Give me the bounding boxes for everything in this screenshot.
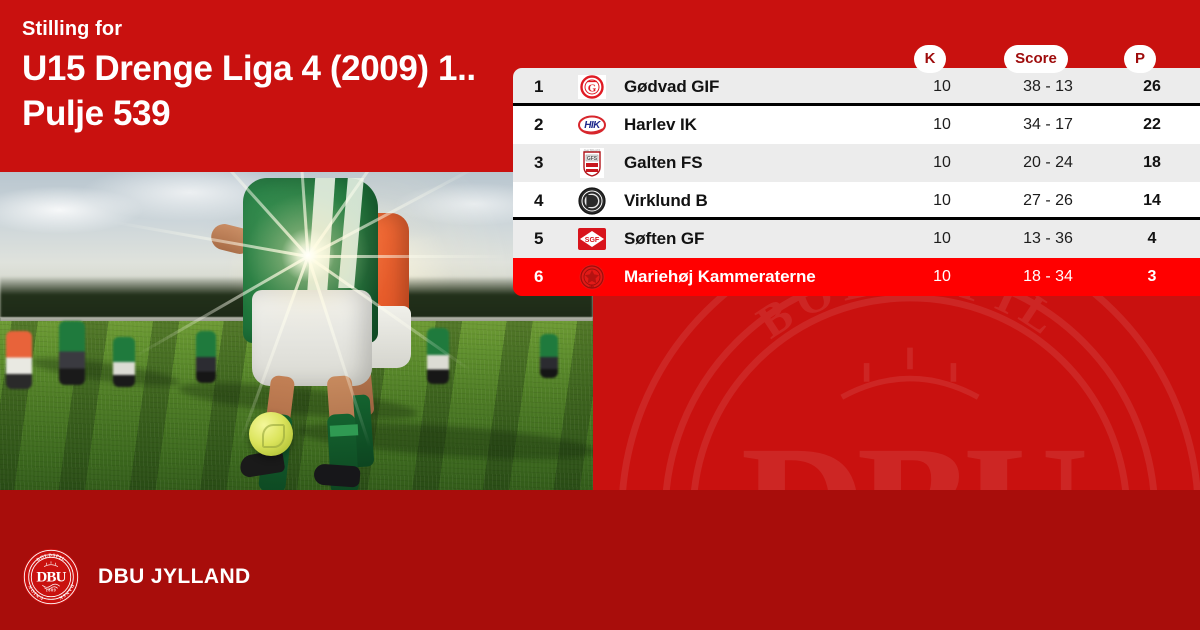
table-row[interactable]: 1 G Gødvad GIF 10 38 - 13 26 [513,68,1200,106]
column-header-matches[interactable]: K [914,45,947,73]
column-header-points[interactable]: P [1124,45,1156,73]
row-matches: 10 [892,230,992,248]
row-points: 26 [1104,78,1200,96]
photo-background-player [6,331,32,389]
row-points: 4 [1104,230,1200,248]
column-header-score[interactable]: Score [1004,45,1068,73]
photo-sun-ray [308,255,508,258]
row-team-name: Søften GF [615,229,892,249]
svg-text:MK: MK [589,285,595,289]
row-points: 22 [1104,116,1200,134]
svg-text:GFS: GFS [587,156,598,162]
header-block: Stilling for U15 Drenge Liga 4 (2009) 1.… [22,16,522,136]
row-position: 1 [513,77,569,97]
row-score: 34 - 17 [992,116,1104,134]
table-row[interactable]: 3 GFS GALTEN FS Galten FS 10 20 - 24 18 [513,144,1200,182]
photo-football [249,412,293,456]
dbu-crest-logo: BOLDSPIL DANSK UNION DBU 1889 [22,548,80,606]
row-score: 27 - 26 [992,192,1104,210]
row-position: 6 [513,267,569,287]
footer-brand: BOLDSPIL DANSK UNION DBU 1889 DBU JYLLAN… [22,548,251,606]
row-position: 2 [513,115,569,135]
row-score: 13 - 36 [992,230,1104,248]
svg-text:HIK: HIK [584,120,601,131]
kicker-text: Stilling for [22,16,522,42]
row-team-name: Galten FS [615,153,892,173]
photo-player-main-shorts [252,290,372,386]
photo-player-main-sock-band [329,424,358,436]
row-points: 3 [1104,268,1200,286]
row-team-name: Gødvad GIF [615,77,892,97]
row-matches: 10 [892,268,992,286]
row-matches: 10 [892,78,992,96]
mariehoj-kammeraterne-logo: MK [569,263,615,291]
harlev-ik-logo: HIK [569,112,615,138]
galten-fs-logo: GFS GALTEN FS [569,148,615,178]
soften-gf-logo: SGF [569,227,615,251]
table-row[interactable]: 6 MK Mariehøj Kammeraterne 10 18 - 34 3 [513,258,1200,296]
football-match-photo [0,172,593,490]
virklund-b-logo [569,187,615,215]
svg-text:GALTEN FS: GALTEN FS [584,149,600,153]
photo-background-player [427,328,449,384]
photo-background-player [540,334,558,378]
row-score: 38 - 13 [992,78,1104,96]
standings-table: 1 G Gødvad GIF 10 38 - 13 26 2 [513,68,1200,296]
svg-text:DBU: DBU [36,570,66,586]
svg-text:SGF: SGF [585,237,600,244]
row-position: 5 [513,229,569,249]
photo-background-player [113,337,135,387]
photo-player-main-boot [314,463,361,487]
row-points: 14 [1104,192,1200,210]
row-matches: 10 [892,154,992,172]
godvad-gif-logo: G [569,73,615,101]
photo-background-player [196,331,216,383]
row-team-name: Mariehøj Kammeraterne [615,267,892,287]
poster-canvas: BOLDSPIL DANSK UNION DBU 1889 Stilling f… [0,0,1200,630]
row-matches: 10 [892,116,992,134]
row-matches: 10 [892,192,992,210]
brand-name: DBU JYLLAND [98,565,251,589]
table-row[interactable]: 4 Virklund B 10 27 - 26 14 [513,182,1200,220]
row-position: 4 [513,191,569,211]
row-team-name: Harlev IK [615,115,892,135]
row-team-name: Virklund B [615,191,892,211]
table-row[interactable]: 2 HIK Harlev IK 10 34 - 17 22 [513,106,1200,144]
svg-text:G: G [588,83,597,95]
row-score: 18 - 34 [992,268,1104,286]
row-position: 3 [513,153,569,173]
row-score: 20 - 24 [992,154,1104,172]
page-title: U15 Drenge Liga 4 (2009) 1.. Pulje 539 [22,46,522,136]
row-points: 18 [1104,154,1200,172]
table-row[interactable]: 5 SGF Søften GF 10 13 - 36 4 [513,220,1200,258]
photo-background-player [59,321,85,385]
